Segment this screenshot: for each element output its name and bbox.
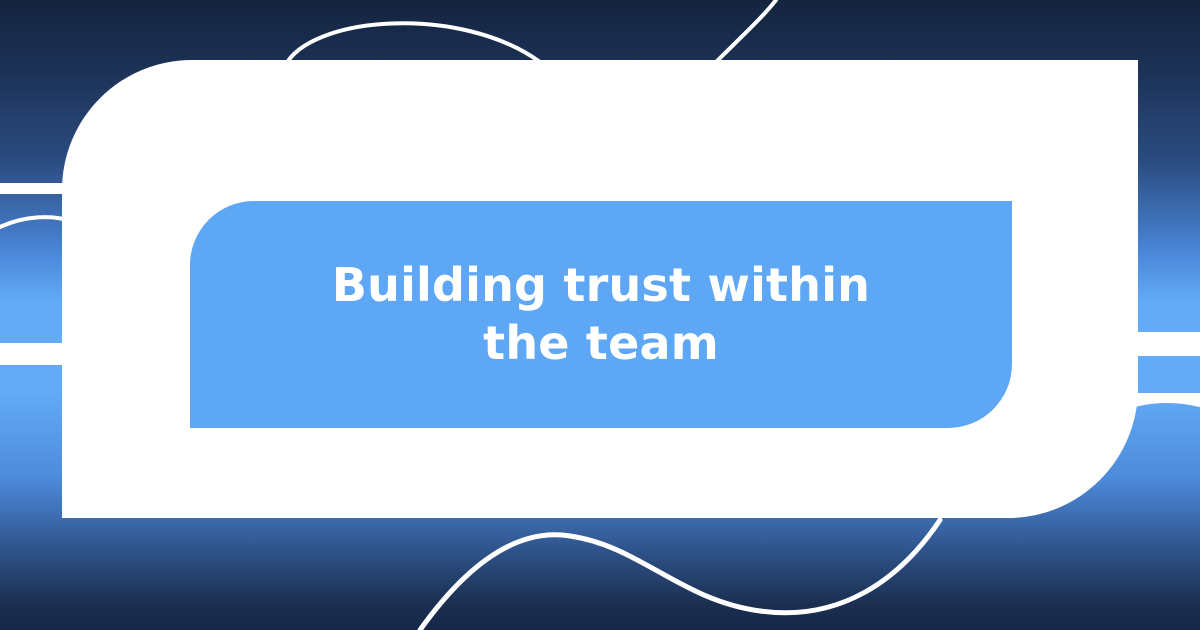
headline-panel: Building trust within the team bbox=[190, 201, 1012, 428]
band-right-mid bbox=[1134, 393, 1200, 403]
poster-canvas: Building trust within the team bbox=[0, 0, 1200, 630]
band-left-mid bbox=[0, 343, 66, 365]
band-left-top bbox=[0, 183, 66, 194]
band-right-top bbox=[1134, 332, 1200, 356]
page-title: Building trust within the team bbox=[332, 257, 870, 372]
